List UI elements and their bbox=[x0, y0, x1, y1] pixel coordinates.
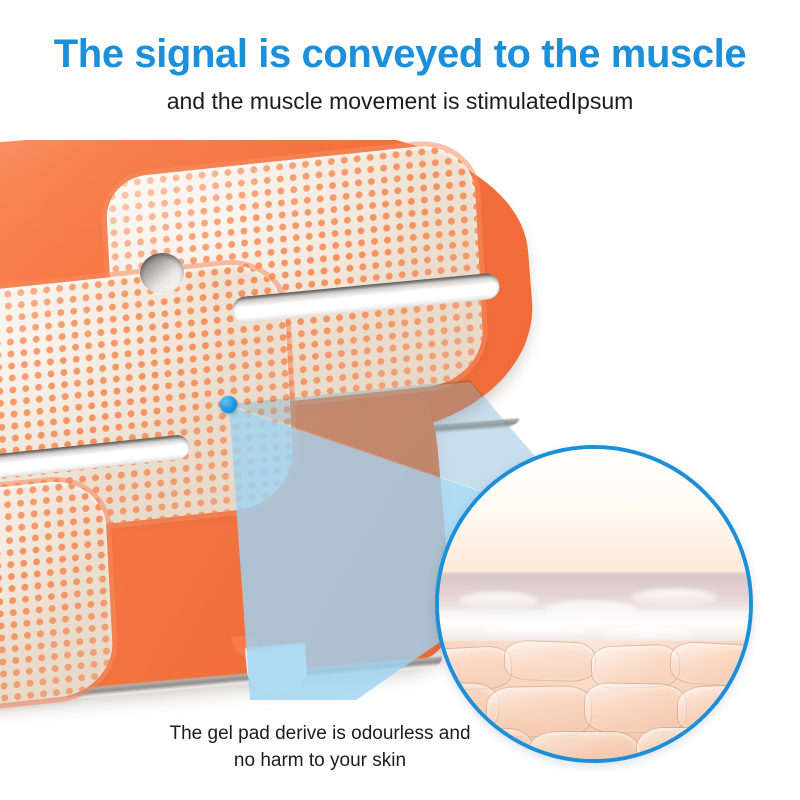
product-photo: The gel pad derive is odourless and no h… bbox=[0, 140, 800, 800]
gel-highlight bbox=[482, 623, 587, 639]
skin-cell bbox=[636, 727, 742, 763]
gel-highlight bbox=[631, 589, 718, 608]
skin-cell bbox=[503, 640, 597, 683]
photo-caption: The gel pad derive is odourless and no h… bbox=[60, 720, 580, 774]
product-marketing-image: The signal is conveyed to the muscle and… bbox=[0, 0, 800, 800]
magnified-skin-circle bbox=[435, 445, 753, 763]
gel-pad-dot-pattern bbox=[0, 476, 115, 718]
gel-highlight bbox=[600, 626, 693, 642]
gel-pad-bottom bbox=[0, 476, 115, 718]
caption-line-2: no harm to your skin bbox=[60, 747, 580, 774]
page-title: The signal is conveyed to the muscle bbox=[0, 30, 800, 78]
callout-marker-dot[interactable] bbox=[220, 396, 237, 413]
page-subtitle: and the muscle movement is stimulatedIps… bbox=[0, 86, 800, 116]
skin-cell bbox=[669, 640, 753, 686]
header-block: The signal is conveyed to the muscle and… bbox=[0, 0, 800, 140]
gel-highlight bbox=[458, 592, 539, 611]
caption-line-1: The gel pad derive is odourless and bbox=[60, 720, 580, 747]
